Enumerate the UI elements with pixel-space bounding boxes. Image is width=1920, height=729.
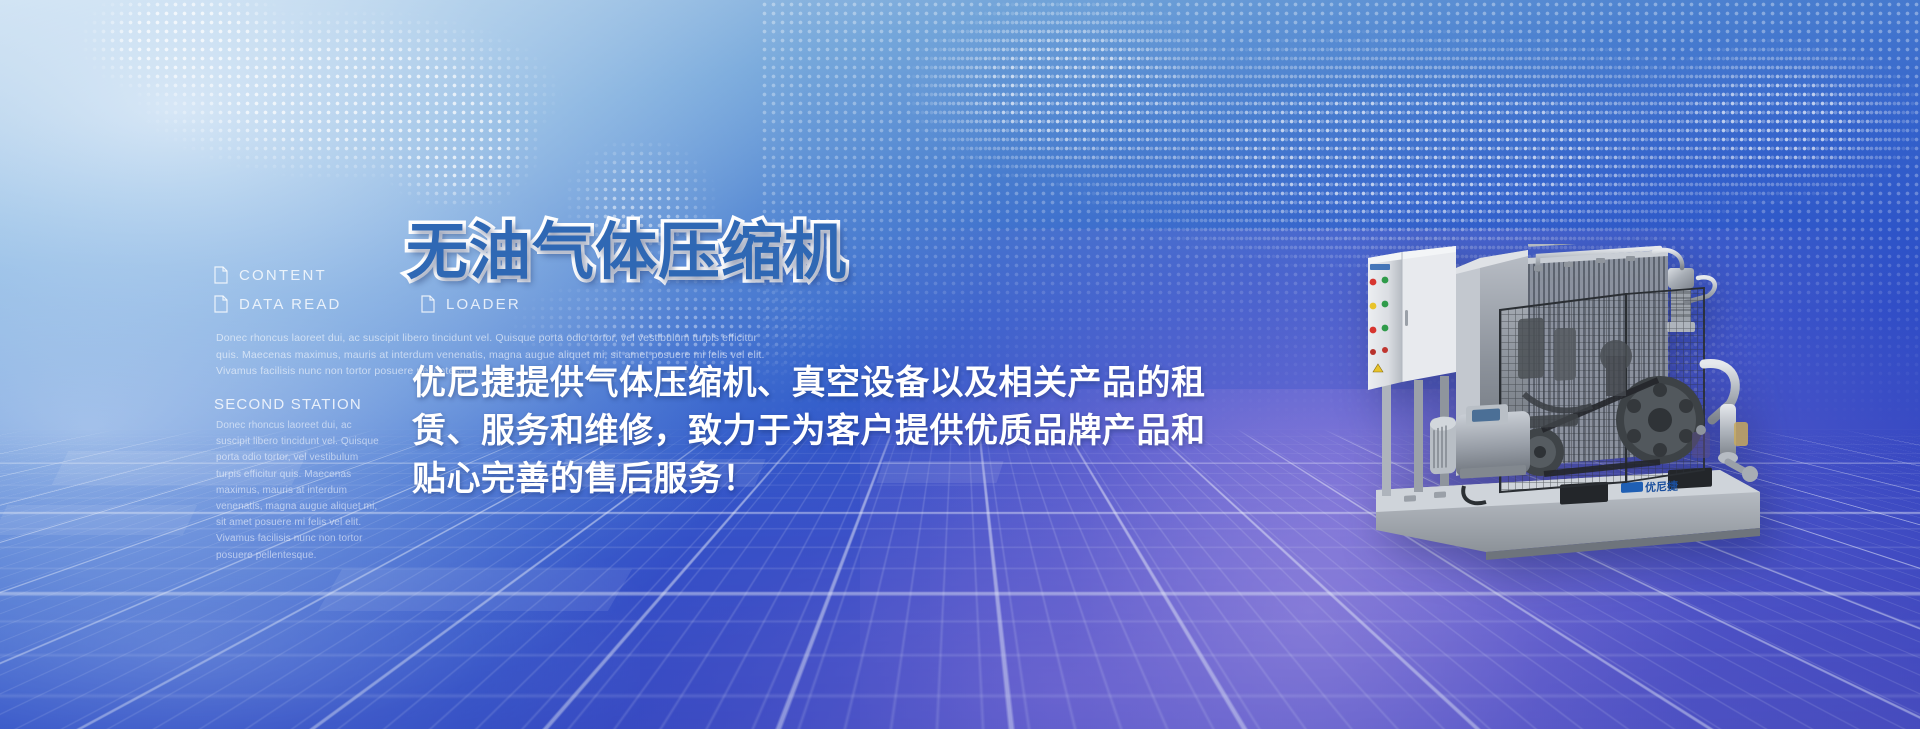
decor-section-paragraph: Donec rhoncus laoreet dui, ac suscipit l… (216, 418, 382, 564)
banner-stage: 无油气体压缩机 CONTENT DATA READ (0, 0, 1920, 729)
document-icon (421, 295, 435, 313)
decor-label-text: CONTENT (239, 267, 327, 284)
compressor-machine-image: 优尼捷 (1368, 244, 1788, 564)
decor-section-heading: SECOND STATION (214, 396, 362, 413)
decor-label-text: LOADER (446, 296, 521, 313)
page-title: 无油气体压缩机 (406, 222, 847, 284)
compressor-illustration: 优尼捷 (1368, 244, 1788, 564)
machine-control-cabinet (1368, 246, 1456, 390)
decor-label-loader: LOADER (421, 295, 521, 313)
decor-label-text: DATA READ (239, 296, 342, 313)
document-icon (214, 295, 228, 313)
floor-highlight-patch (318, 569, 632, 611)
decor-label-content: CONTENT (214, 266, 327, 284)
banner-description: 优尼捷提供气体压缩机、真空设备以及相关产品的租赁、服务和维修，致力于为客户提供优… (412, 360, 1212, 504)
background-glow-top-left (0, 0, 990, 600)
floor-highlight-patch (0, 505, 197, 535)
dotmap-north-america (18, 0, 678, 210)
machine-discharge-pipework (1704, 364, 1758, 482)
document-icon (214, 266, 228, 284)
machine-brand-text: 优尼捷 (1645, 479, 1679, 495)
decor-label-data-read: DATA READ (214, 295, 342, 313)
